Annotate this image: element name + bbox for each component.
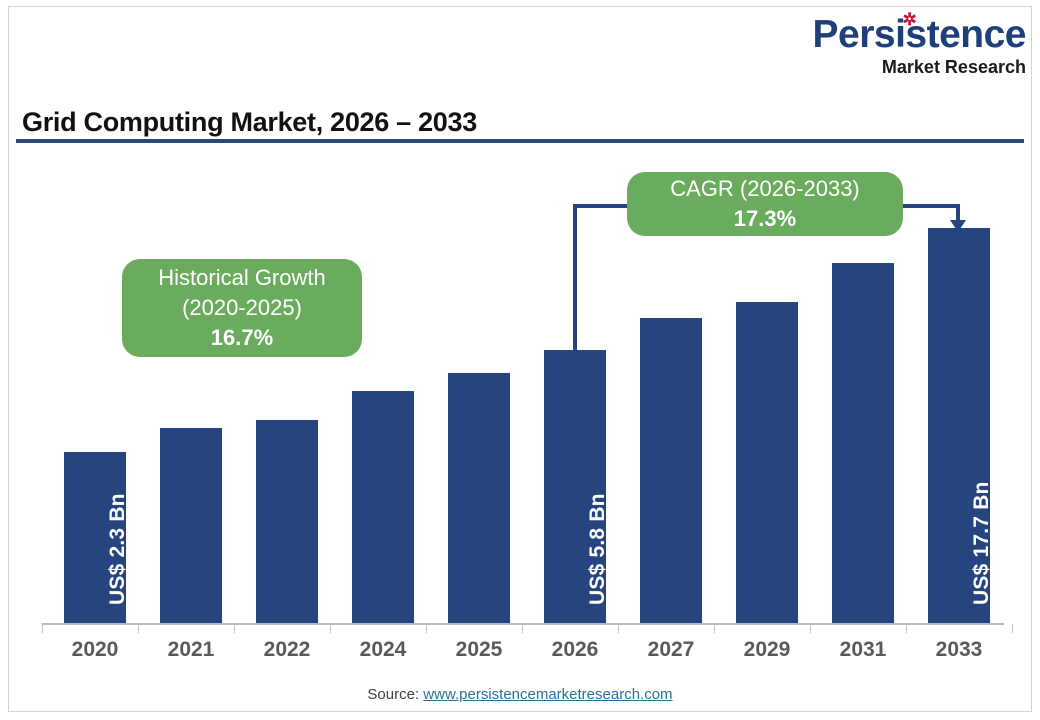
bar-2031 [832,263,894,623]
x-axis-label-2029: 2029 [722,638,812,662]
x-axis-label-2021: 2021 [146,638,236,662]
bar-chart-plot: US$ 2.3 Bn20202021202220242025US$ 5.8 Bn… [0,0,1040,720]
source-line: Source: www.persistencemarketresearch.co… [0,686,1040,703]
x-axis-tick-end [1012,624,1013,633]
cagr-line1: CAGR (2026-2033) [670,174,860,204]
bar-value-label-2026: US$ 5.8 Bn [586,493,610,605]
x-axis-label-2026: 2026 [530,638,620,662]
historical-growth-value: 16.7% [211,323,273,353]
x-axis-tick-0 [42,624,43,633]
x-axis-tick-9 [906,624,907,633]
x-axis-line [42,623,1004,625]
bar-2029 [736,302,798,623]
x-axis-tick-4 [426,624,427,633]
bar-value-label-2020: US$ 2.3 Bn [106,493,130,605]
x-axis-tick-1 [138,624,139,633]
x-axis-tick-7 [714,624,715,633]
x-axis-label-2022: 2022 [242,638,332,662]
cagr-callout: CAGR (2026-2033) 17.3% [627,172,903,236]
cagr-connector-horizontal-right [895,204,960,208]
chart-page: Persistence ✲ Market Research Grid Compu… [0,0,1040,720]
bar-2024 [352,391,414,623]
cagr-connector-vertical-left [573,204,577,352]
source-link[interactable]: www.persistencemarketresearch.com [423,686,672,703]
bar-2025 [448,373,510,623]
bar-value-label-2033: US$ 17.7 Bn [970,481,994,605]
arrow-down-icon [950,220,966,232]
x-axis-label-2031: 2031 [818,638,908,662]
bar-2022 [256,420,318,623]
x-axis-tick-8 [810,624,811,633]
bar-2027 [640,318,702,623]
historical-growth-line1: Historical Growth [158,263,325,293]
historical-growth-line2: (2020-2025) [182,293,302,323]
source-prefix: Source: [367,686,423,703]
x-axis-label-2027: 2027 [626,638,716,662]
x-axis-label-2025: 2025 [434,638,524,662]
historical-growth-callout: Historical Growth (2020-2025) 16.7% [122,259,362,357]
x-axis-label-2020: 2020 [50,638,140,662]
x-axis-label-2033: 2033 [914,638,1004,662]
cagr-value: 17.3% [734,204,796,234]
x-axis-tick-2 [234,624,235,633]
x-axis-label-2024: 2024 [338,638,428,662]
x-axis-tick-3 [330,624,331,633]
x-axis-tick-6 [618,624,619,633]
bar-2021 [160,428,222,623]
x-axis-tick-5 [522,624,523,633]
